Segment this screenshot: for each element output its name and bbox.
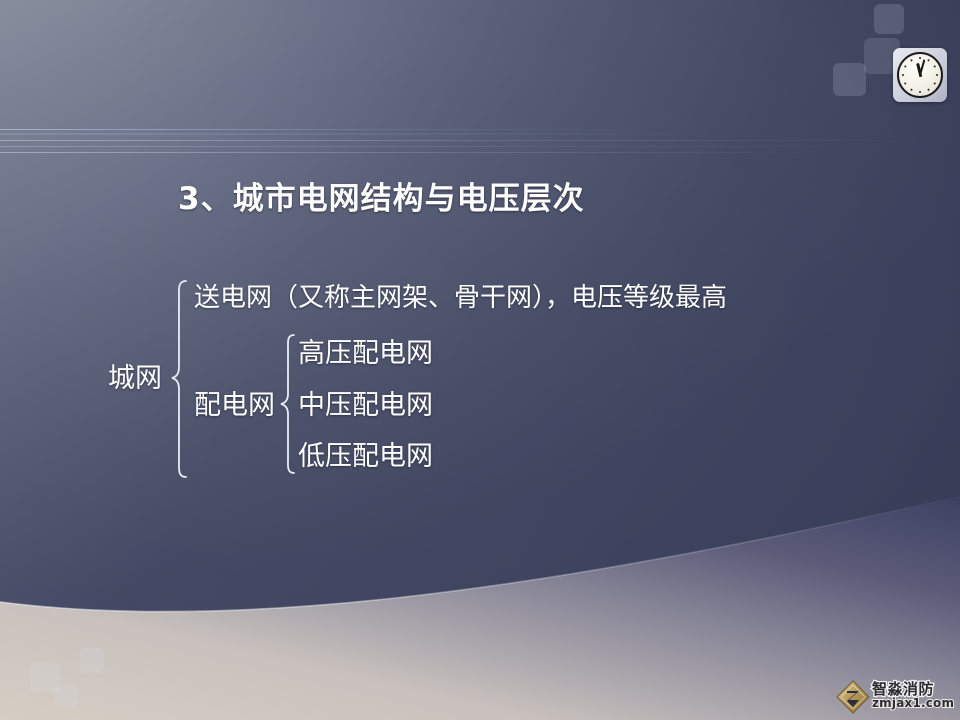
bottom-swoosh — [0, 480, 960, 720]
accent-line — [0, 133, 700, 135]
slide-canvas: 3、城市电网结构与电压层次 城网 送电网（又称主网架、骨干网），电压等级最高 配… — [0, 0, 960, 720]
brace-outer — [172, 281, 186, 477]
accent-line — [0, 152, 820, 153]
accent-line — [0, 146, 900, 147]
decor-square — [55, 685, 78, 708]
decor-square — [833, 63, 866, 96]
clock-icon — [893, 48, 947, 102]
accent-lines — [0, 120, 760, 160]
diagram-sub-medium-voltage: 中压配电网 — [298, 392, 433, 419]
network-structure-diagram: 城网 送电网（又称主网架、骨干网），电压等级最高 配电网 高压配电网 中压配电网… — [0, 255, 960, 505]
brace-inner — [281, 335, 294, 473]
watermark-logo-icon — [836, 680, 870, 714]
clock-face — [897, 52, 943, 98]
decor-square — [874, 4, 904, 34]
diagram-branch-transmission: 送电网（又称主网架、骨干网），电压等级最高 — [194, 285, 727, 311]
diagram-sub-high-voltage: 高压配电网 — [298, 340, 433, 367]
decor-square — [79, 648, 104, 673]
clock-minute-hand — [919, 59, 925, 75]
diagram-sub-low-voltage: 低压配电网 — [298, 443, 433, 470]
watermark-url: zmjax1.com — [872, 696, 954, 710]
diagram-branch-distribution: 配电网 — [194, 392, 275, 419]
diagram-root-label: 城网 — [108, 365, 162, 392]
watermark: 智淼消防 zmjax1.com — [836, 676, 954, 718]
slide-title: 3、城市电网结构与电压层次 — [178, 173, 585, 218]
accent-line — [0, 140, 960, 141]
accent-line — [0, 129, 640, 130]
clock-pivot — [919, 74, 922, 77]
